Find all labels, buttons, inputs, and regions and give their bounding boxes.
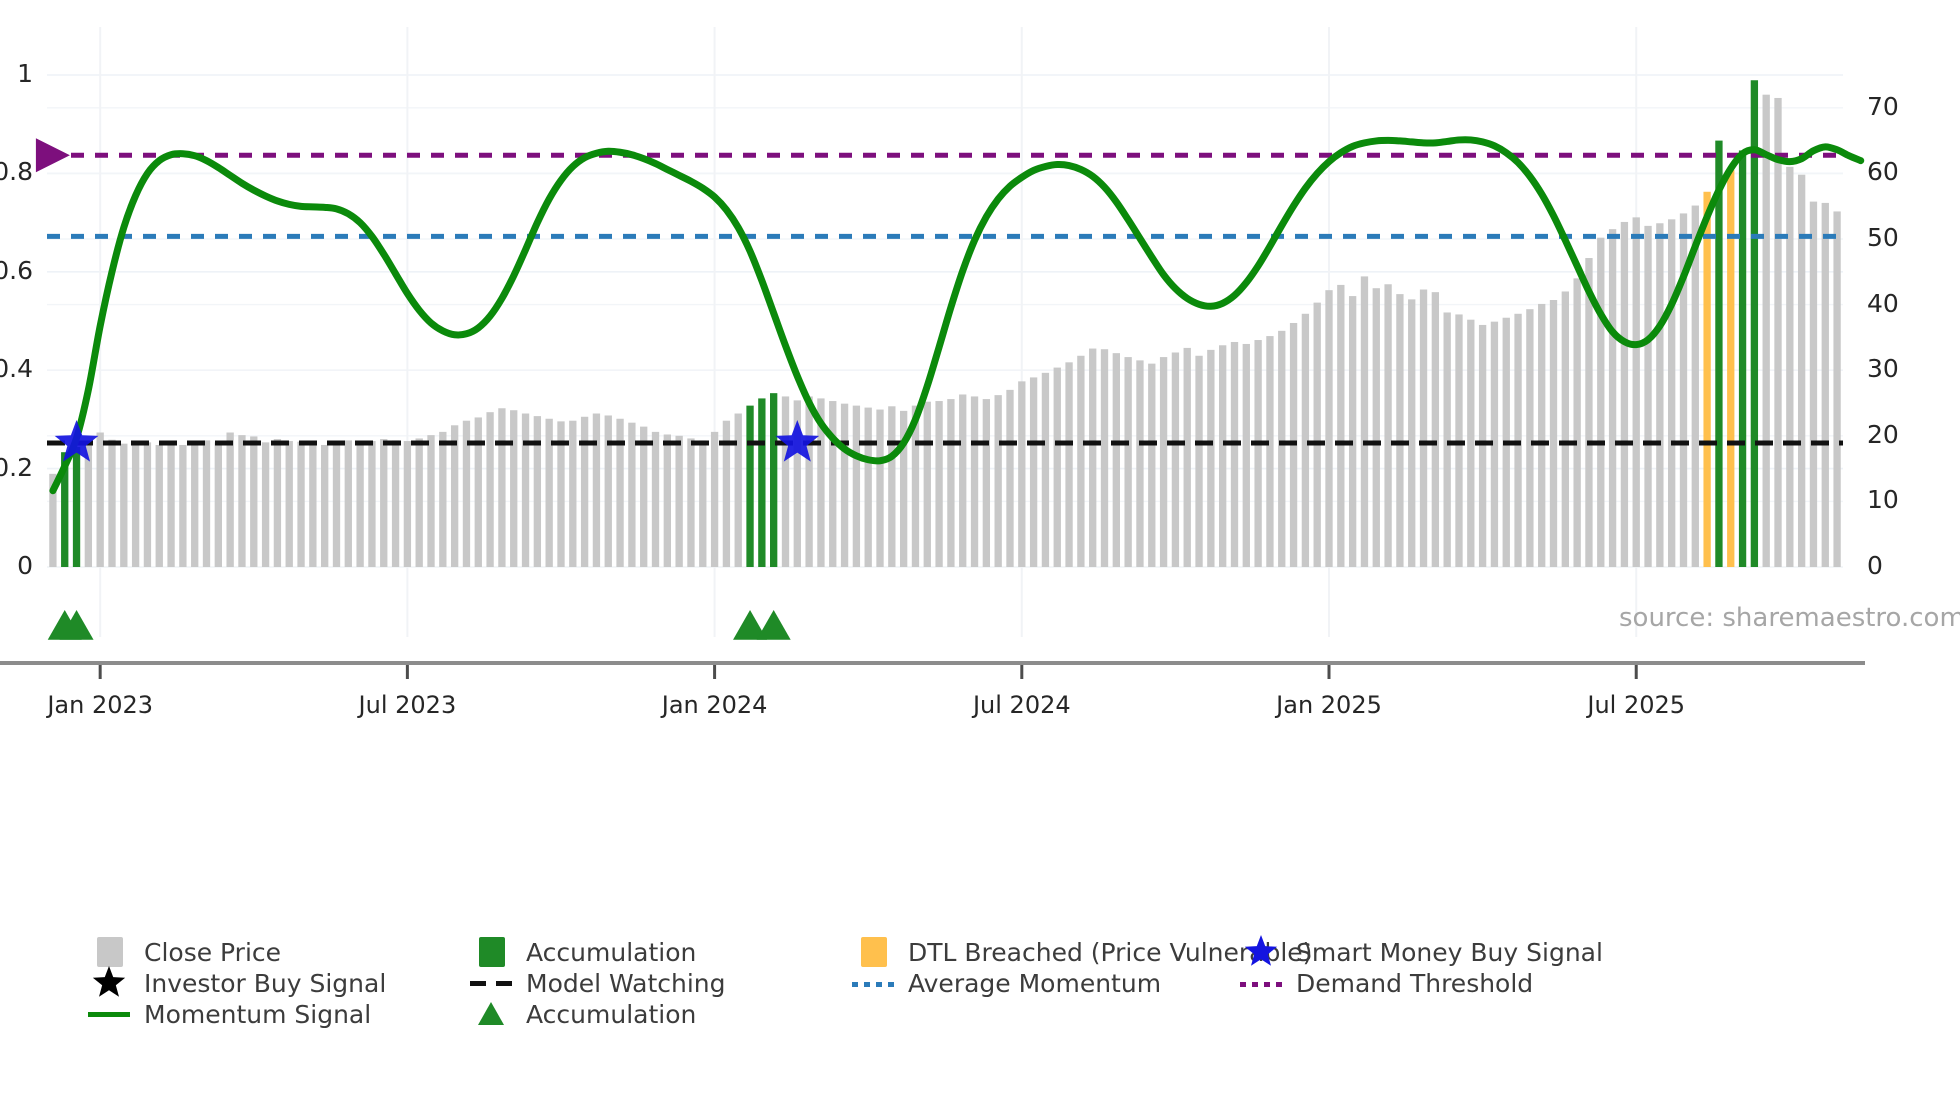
price-bar xyxy=(309,442,316,567)
price-bar xyxy=(1101,349,1108,567)
legend-label: Accumulation xyxy=(526,1000,696,1029)
source-note: source: sharemaestro.com xyxy=(1619,603,1960,633)
legend-close-price[interactable]: Close Price xyxy=(88,935,281,969)
price-bar xyxy=(534,416,541,567)
price-bar xyxy=(1266,336,1273,567)
price-bar xyxy=(1633,217,1640,567)
price-bar xyxy=(1408,299,1415,567)
price-bar xyxy=(1538,304,1545,567)
price-bar xyxy=(203,440,210,567)
price-bar xyxy=(1562,291,1569,567)
legend-swatch-square-icon xyxy=(97,937,123,967)
price-bar xyxy=(380,439,387,567)
price-bar xyxy=(1479,325,1486,567)
price-bar xyxy=(1822,203,1829,567)
price-bar xyxy=(1514,314,1521,567)
price-bar xyxy=(758,398,765,567)
price-bar xyxy=(250,436,257,567)
legend-swatch-dotted-icon xyxy=(1240,982,1282,987)
price-bar xyxy=(1148,364,1155,567)
price-bar xyxy=(416,438,423,567)
price-bar xyxy=(593,413,600,567)
legend-momentum-signal[interactable]: Momentum Signal xyxy=(88,997,371,1031)
price-bar xyxy=(1207,350,1214,567)
price-bar xyxy=(333,442,340,567)
legend-accumulation-marker[interactable]: Accumulation xyxy=(470,997,696,1031)
price-bar xyxy=(1396,294,1403,567)
price-bar xyxy=(286,441,293,567)
price-bar xyxy=(1054,368,1061,567)
legend-smart-money-buy-signal[interactable]: Smart Money Buy Signal xyxy=(1240,935,1603,969)
price-bar xyxy=(1656,223,1663,567)
price-bar xyxy=(156,445,163,567)
price-bar xyxy=(1089,349,1096,567)
price-bar xyxy=(971,396,978,567)
price-bar xyxy=(947,399,954,567)
price-bar xyxy=(1420,290,1427,567)
legend-label: Investor Buy Signal xyxy=(144,969,386,998)
legend-label: Demand Threshold xyxy=(1296,969,1533,998)
legend-label: Accumulation xyxy=(526,938,696,967)
price-bar xyxy=(1184,348,1191,567)
price-bar xyxy=(427,435,434,567)
price-bar xyxy=(226,433,233,567)
legend-model-watching[interactable]: Model Watching xyxy=(470,966,726,1000)
price-bar xyxy=(392,440,399,567)
price-bar xyxy=(581,417,588,567)
price-bar xyxy=(522,413,529,567)
legend-label: Average Momentum xyxy=(908,969,1161,998)
price-bar xyxy=(475,417,482,567)
price-bar xyxy=(829,401,836,567)
price-bar xyxy=(1739,150,1746,567)
price-bar xyxy=(1467,320,1474,567)
legend-swatch-triangle-icon xyxy=(473,997,509,1031)
price-bar xyxy=(1727,170,1734,567)
price-bar xyxy=(1077,356,1084,567)
price-bar xyxy=(1715,141,1722,567)
price-bar xyxy=(1384,284,1391,567)
price-bar xyxy=(97,433,104,567)
price-bar xyxy=(1219,345,1226,567)
price-bar xyxy=(1278,331,1285,567)
chart-root: 00.20.40.60.81 010203040506070 Jan 2023J… xyxy=(0,0,1960,1102)
price-bar xyxy=(144,442,151,567)
price-bar xyxy=(853,406,860,567)
price-bar xyxy=(805,396,812,567)
price-bar xyxy=(167,442,174,567)
price-bar xyxy=(345,440,352,567)
price-bar xyxy=(356,442,363,567)
price-bar xyxy=(1042,373,1049,567)
price-bar xyxy=(1160,357,1167,567)
price-bar xyxy=(1325,290,1332,567)
price-bar xyxy=(1337,285,1344,567)
price-bar xyxy=(321,445,328,567)
price-bar xyxy=(498,408,505,567)
price-bar xyxy=(1172,352,1179,567)
price-bar xyxy=(1609,229,1616,567)
accumulation-triangle-marker xyxy=(757,610,791,640)
price-bar xyxy=(1774,98,1781,567)
price-bar xyxy=(73,447,80,567)
price-bar xyxy=(1195,356,1202,567)
price-bar xyxy=(1124,357,1131,567)
legend-swatch-line-icon xyxy=(88,1012,130,1017)
legend-label: Momentum Signal xyxy=(144,1000,371,1029)
price-bar xyxy=(865,408,872,567)
price-bar xyxy=(1243,344,1250,567)
price-bar xyxy=(699,440,706,567)
price-bar xyxy=(652,432,659,567)
price-bar xyxy=(191,442,198,567)
price-bar xyxy=(675,436,682,567)
price-bar xyxy=(995,395,1002,567)
price-bar xyxy=(1254,340,1261,567)
legend-swatch-star-icon xyxy=(91,966,127,1000)
legend-investor-buy-signal[interactable]: Investor Buy Signal xyxy=(88,966,386,1000)
price-bar xyxy=(179,445,186,567)
price-bar xyxy=(1763,95,1770,567)
legend-average-momentum[interactable]: Average Momentum xyxy=(852,966,1161,1000)
legend-swatch-dotted-icon xyxy=(852,982,894,987)
price-bar xyxy=(1231,342,1238,567)
price-bar xyxy=(1526,309,1533,567)
price-bar xyxy=(1597,238,1604,567)
legend-swatch-dash-icon xyxy=(470,981,512,986)
price-bar xyxy=(1314,303,1321,567)
price-bar xyxy=(1373,288,1380,567)
price-bar xyxy=(1065,362,1072,567)
price-bar xyxy=(1573,278,1580,567)
demand-threshold-diamond-marker xyxy=(36,138,70,172)
legend-label: Smart Money Buy Signal xyxy=(1296,938,1603,967)
price-bar xyxy=(1018,381,1025,567)
price-bar xyxy=(1113,353,1120,567)
price-bar xyxy=(1668,219,1675,567)
price-bar xyxy=(569,421,576,567)
price-bar xyxy=(215,442,222,567)
price-bar xyxy=(1136,360,1143,567)
price-bar xyxy=(841,404,848,567)
price-bar xyxy=(1810,202,1817,567)
price-bar xyxy=(120,444,127,567)
price-bar xyxy=(605,415,612,567)
price-bar xyxy=(628,423,635,567)
price-bar xyxy=(297,442,304,567)
price-bar xyxy=(770,393,777,567)
price-bar xyxy=(486,412,493,567)
price-bar xyxy=(1432,292,1439,567)
price-bar xyxy=(1361,276,1368,567)
price-bar xyxy=(664,434,671,567)
price-bar xyxy=(439,432,446,567)
price-bar xyxy=(1703,192,1710,567)
legend-swatch-star-icon xyxy=(1243,935,1279,969)
price-bar xyxy=(1444,312,1451,567)
price-bar xyxy=(983,399,990,567)
legend-label: Close Price xyxy=(144,938,281,967)
price-bar xyxy=(888,406,895,567)
price-bar xyxy=(238,435,245,567)
price-bar xyxy=(510,410,517,567)
legend-accumulation-bar[interactable]: Accumulation xyxy=(470,935,696,969)
price-bar xyxy=(1621,222,1628,567)
price-bar xyxy=(1302,314,1309,567)
price-bar xyxy=(876,410,883,567)
price-bar xyxy=(1644,226,1651,567)
price-bar xyxy=(1006,390,1013,567)
price-bar xyxy=(924,402,931,567)
price-bar xyxy=(935,401,942,567)
price-bar xyxy=(687,438,694,567)
price-bar xyxy=(1550,300,1557,567)
legend-swatch-square-icon xyxy=(479,937,505,967)
legend-demand-threshold[interactable]: Demand Threshold xyxy=(1240,966,1533,1000)
price-bar xyxy=(746,406,753,567)
price-bar xyxy=(262,442,269,567)
price-bar xyxy=(132,441,139,567)
price-bar xyxy=(782,396,789,567)
price-bar xyxy=(274,439,281,567)
price-bar xyxy=(404,441,411,567)
price-bar xyxy=(735,413,742,567)
price-bar xyxy=(108,440,115,567)
price-bar xyxy=(1030,377,1037,567)
price-bar xyxy=(1798,175,1805,567)
price-bar xyxy=(451,425,458,567)
price-bar xyxy=(1349,296,1356,567)
price-bar xyxy=(1833,211,1840,567)
legend-swatch-square-icon xyxy=(861,937,887,967)
legend-label: Model Watching xyxy=(526,969,726,998)
price-bar xyxy=(640,427,647,567)
price-bar xyxy=(1786,167,1793,567)
price-bar xyxy=(711,432,718,567)
price-bar xyxy=(959,394,966,567)
price-bar xyxy=(368,441,375,567)
